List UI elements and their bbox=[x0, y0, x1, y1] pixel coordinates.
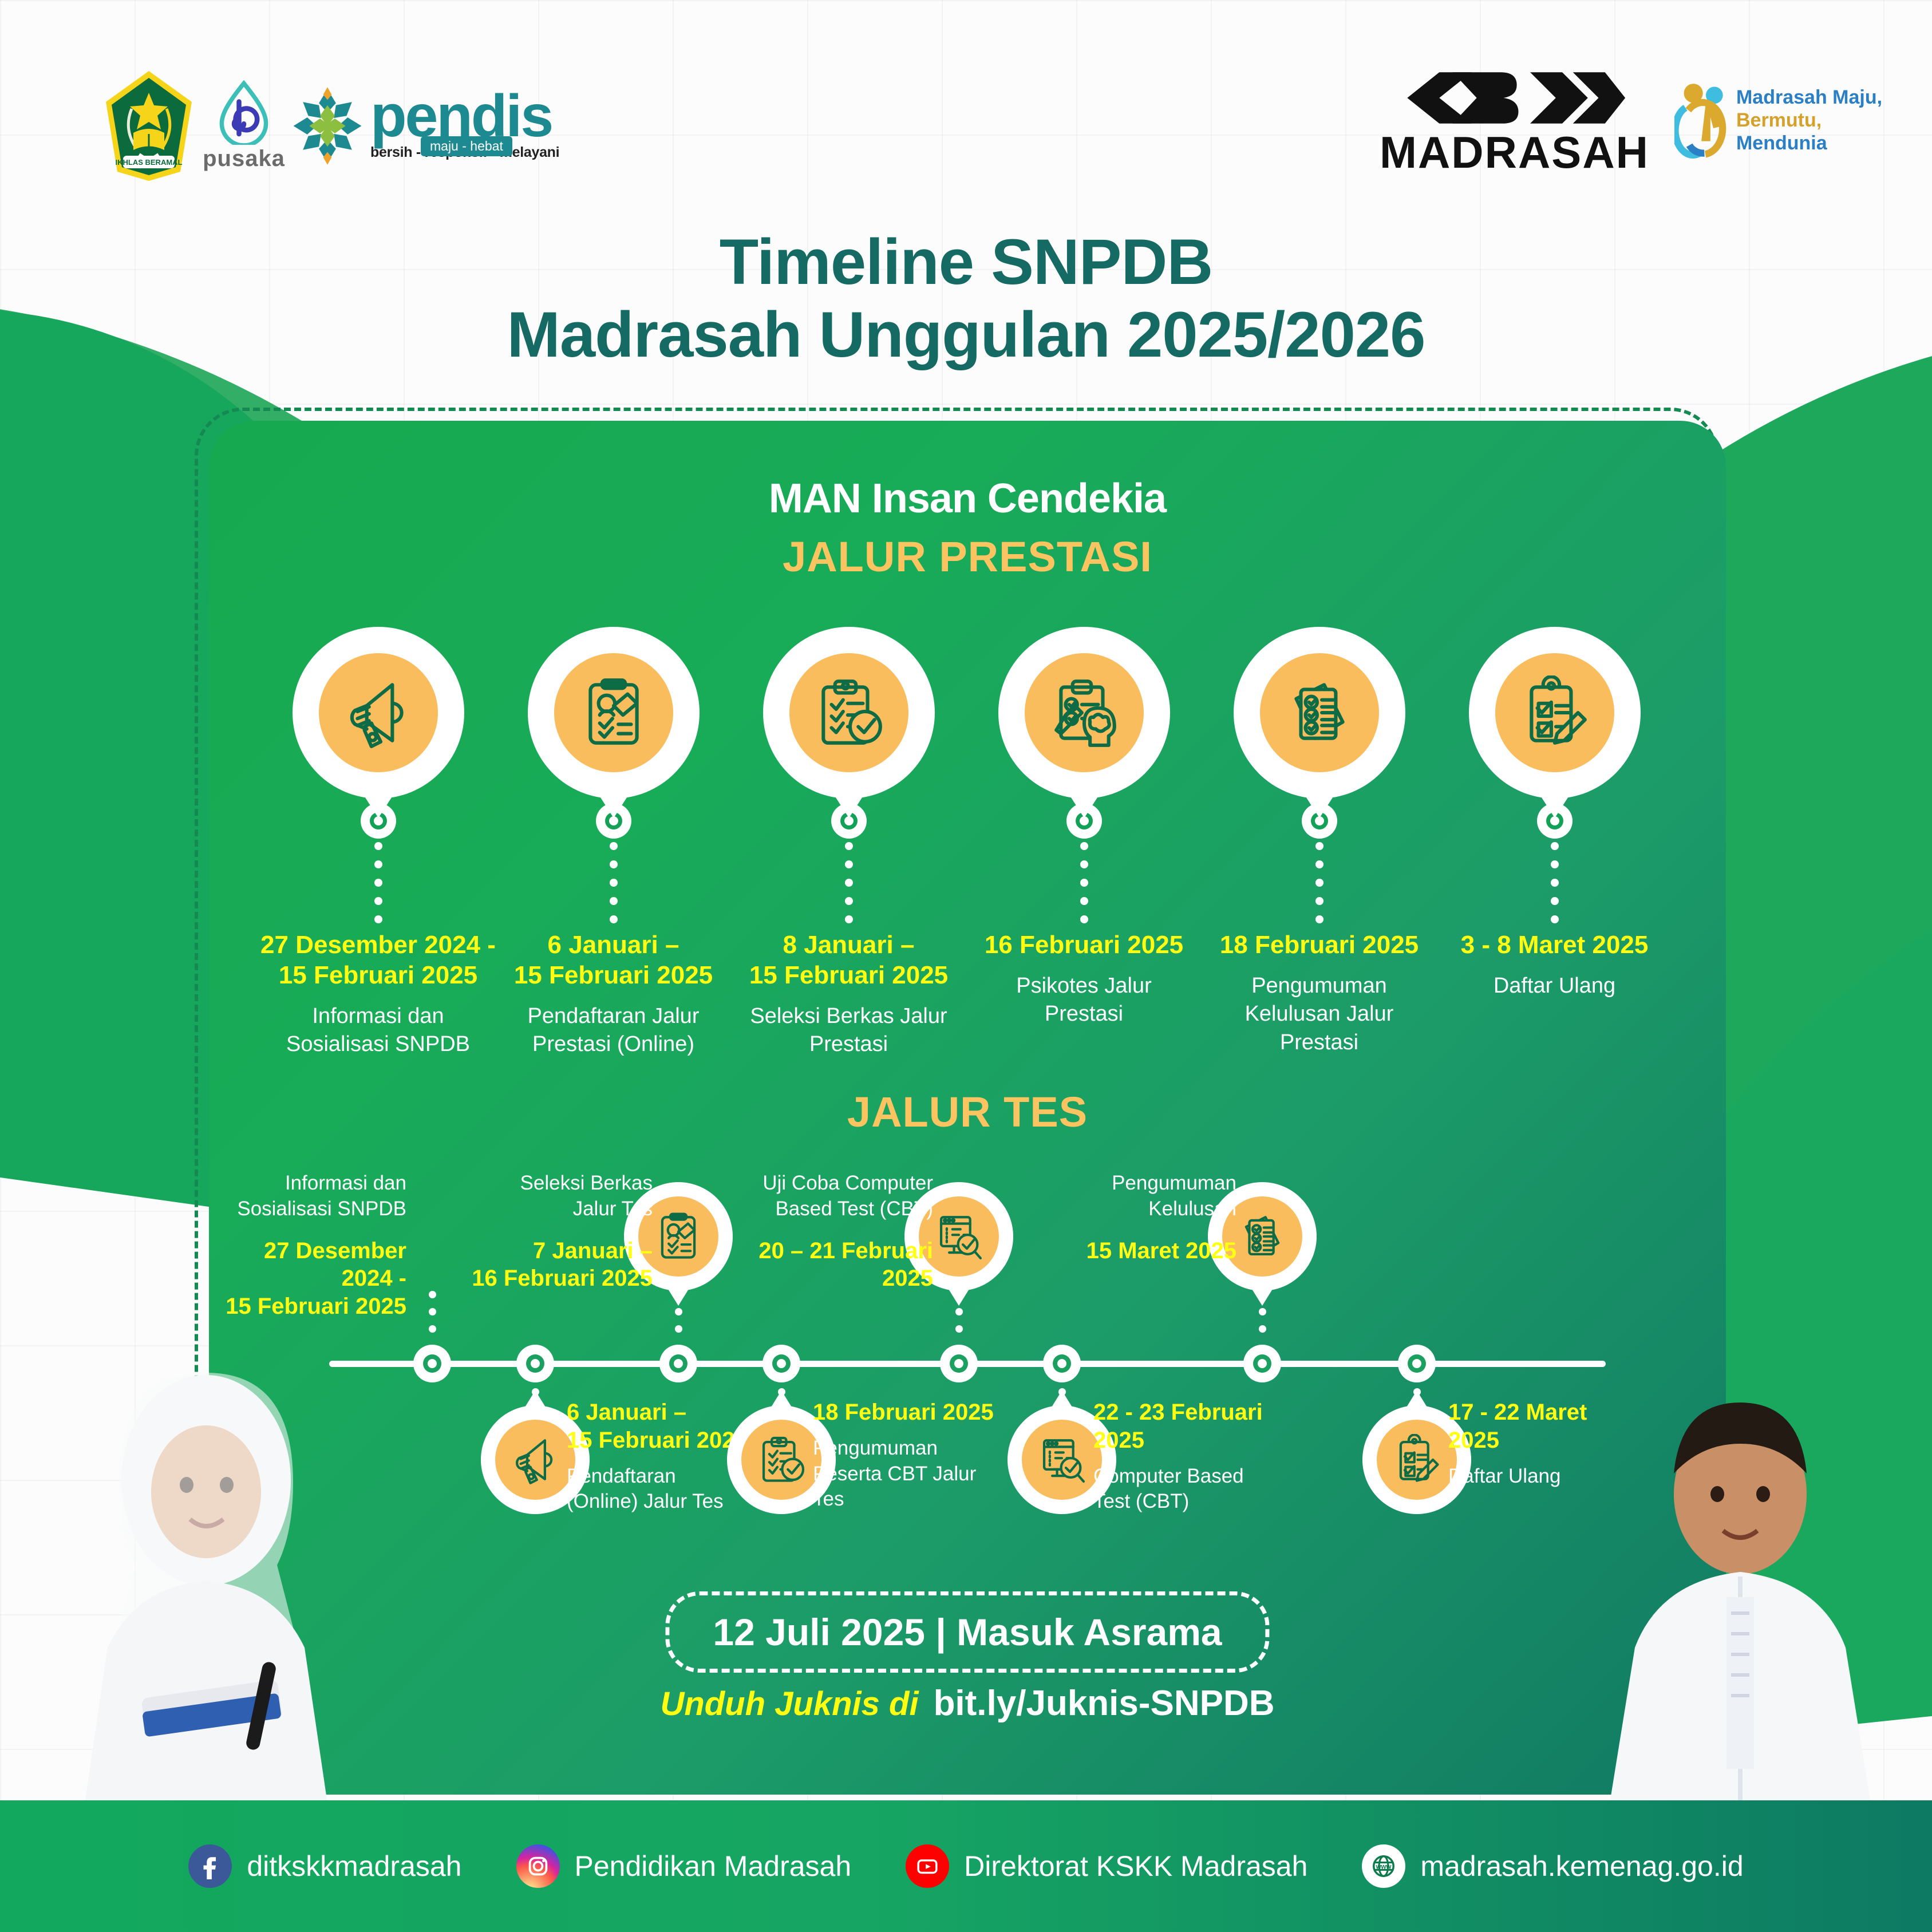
pendis-badge: maju - hebat bbox=[421, 136, 512, 156]
tes-step-date: 20 – 21 Februari2025 bbox=[744, 1237, 933, 1293]
pin-icon-disc bbox=[789, 653, 908, 772]
prestasi-step: 3 - 8 Maret 2025 Daftar Ulang bbox=[1437, 627, 1672, 1058]
juknis-prefix: Unduh Juknis di bbox=[660, 1685, 918, 1723]
tes-step-date: 6 Januari –15 Februari 2025 bbox=[567, 1398, 756, 1455]
pin-icon-disc bbox=[495, 1420, 575, 1500]
social-footer: ditkskkmadrasah Pendidikan Madrasah Dire… bbox=[0, 1800, 1932, 1932]
header-logos-left: IKHLAS BERAMAL pusaka bbox=[100, 69, 559, 183]
social-link[interactable]: ditkskkmadrasah bbox=[188, 1844, 461, 1888]
tes-step-date: 22 - 23 Februari2025 bbox=[1093, 1398, 1282, 1455]
cbt-screen-icon bbox=[933, 1211, 985, 1262]
header-logos-right: MADRASAH Madrasah Maju, Bermutu, Menduni… bbox=[1380, 66, 1882, 175]
prestasi-step-date: 8 Januari –15 Februari 2025 bbox=[749, 930, 948, 991]
tes-step-label: PengumumanKelulusan bbox=[1048, 1171, 1236, 1222]
pin-icon-disc bbox=[1495, 653, 1614, 772]
prestasi-step-pin bbox=[1234, 627, 1405, 799]
social-link-label[interactable]: madrasah.kemenag.go.id bbox=[1420, 1850, 1743, 1883]
timeline-dotted-connector bbox=[1082, 842, 1086, 923]
tes-step-text: Uji Coba ComputerBased Test (CBT)20 – 21… bbox=[744, 1171, 933, 1293]
prestasi-heading: JALUR PRESTASI bbox=[209, 532, 1726, 581]
prestasi-step: 6 Januari –15 Februari 2025 Pendaftaran … bbox=[496, 627, 731, 1058]
social-link-label[interactable]: Pendidikan Madrasah bbox=[575, 1850, 852, 1883]
pin-bubble bbox=[998, 627, 1170, 799]
pin-tail bbox=[663, 1282, 693, 1306]
tes-timeline-node bbox=[762, 1345, 800, 1382]
prestasi-step-pin bbox=[1469, 627, 1641, 799]
tes-step-text: 18 Februari 2025PengumumanPeserta CBT Ja… bbox=[813, 1398, 1002, 1512]
tes-timeline: Informasi danSosialisasi SNPDB27 Desembe… bbox=[249, 1159, 1686, 1560]
clipboard-pencil-icon bbox=[1518, 675, 1592, 750]
pin-bubble bbox=[1469, 627, 1641, 799]
pin-tail bbox=[520, 1390, 550, 1415]
student-photo-right bbox=[1546, 1368, 1912, 1803]
pin-icon-disc bbox=[1260, 653, 1379, 772]
tes-heading: JALUR TES bbox=[209, 1088, 1726, 1136]
pendis-mark bbox=[290, 83, 365, 169]
tes-timeline-node bbox=[659, 1345, 697, 1382]
megaphone-icon bbox=[509, 1434, 561, 1485]
pin-bubble bbox=[293, 627, 464, 799]
mmm-line-2: Bermutu, bbox=[1736, 109, 1882, 132]
prestasi-step: 16 Februari 2025 Psikotes JalurPrestasi bbox=[966, 627, 1202, 1058]
timeline-dotted-connector bbox=[376, 842, 381, 923]
page-title: Timeline SNPDB Madrasah Unggulan 2025/20… bbox=[0, 226, 1932, 371]
timeline-dotted-connector bbox=[847, 842, 851, 923]
madrasah-logo: MADRASAH bbox=[1380, 66, 1649, 175]
pin-icon-disc bbox=[1025, 653, 1144, 772]
megaphone-icon bbox=[341, 675, 416, 750]
tes-timeline-node bbox=[940, 1345, 978, 1382]
pendis-wordmark: pendis bbox=[370, 91, 552, 141]
tes-timeline-node bbox=[1243, 1345, 1281, 1382]
tes-step-label: Informasi danSosialisasi SNPDB bbox=[218, 1171, 406, 1222]
social-link[interactable]: madrasah.kemenag.go.id bbox=[1362, 1844, 1743, 1888]
prestasi-step-date: 6 Januari –15 Februari 2025 bbox=[514, 930, 713, 991]
instagram-icon[interactable] bbox=[516, 1844, 560, 1888]
pin-bubble bbox=[1234, 627, 1405, 799]
prestasi-step: 8 Januari –15 Februari 2025 Seleksi Berk… bbox=[731, 627, 966, 1058]
social-link[interactable]: Direktorat KSKK Madrasah bbox=[906, 1844, 1307, 1888]
prestasi-step-date: 27 Desember 2024 -15 Februari 2025 bbox=[260, 930, 496, 991]
tes-step-text: Informasi danSosialisasi SNPDB27 Desembe… bbox=[218, 1171, 406, 1321]
title-line-1: Timeline SNPDB bbox=[0, 226, 1932, 299]
tes-step-label: Computer BasedTest (CBT) bbox=[1093, 1464, 1282, 1515]
pin-bubble bbox=[763, 627, 935, 799]
prestasi-step-pin bbox=[763, 627, 935, 799]
pin-icon-disc bbox=[1022, 1420, 1102, 1500]
pin-icon-disc bbox=[1377, 1420, 1457, 1500]
pin-tail bbox=[1402, 1390, 1432, 1415]
clipboard-check-icon bbox=[756, 1434, 807, 1485]
social-link[interactable]: Pendidikan Madrasah bbox=[516, 1844, 852, 1888]
prestasi-step-date: 3 - 8 Maret 2025 bbox=[1461, 930, 1649, 961]
mmm-figure-icon bbox=[1674, 77, 1729, 163]
tes-step-date: 18 Februari 2025 bbox=[813, 1398, 1002, 1427]
mmm-line-3: Mendunia bbox=[1736, 132, 1882, 155]
timeline-dotted-connector bbox=[1552, 842, 1557, 923]
documents-check-icon bbox=[1236, 1211, 1288, 1262]
juknis-link[interactable]: bit.ly/Juknis-SNPDB bbox=[934, 1683, 1275, 1724]
psychology-test-icon bbox=[1047, 675, 1121, 750]
prestasi-step: 27 Desember 2024 -15 Februari 2025 Infor… bbox=[260, 627, 496, 1058]
pin-icon-disc bbox=[741, 1420, 821, 1500]
pin-tail bbox=[767, 1390, 796, 1415]
school-name: MAN Insan Cendekia bbox=[209, 475, 1726, 522]
title-line-2: Madrasah Unggulan 2025/2026 bbox=[0, 299, 1932, 372]
prestasi-step-label: PengumumanKelulusan JalurPrestasi bbox=[1245, 972, 1394, 1057]
prestasi-step-date: 18 Februari 2025 bbox=[1220, 930, 1419, 961]
clipboard-check-icon bbox=[812, 675, 886, 750]
tes-step-text: Seleksi BerkasJalur Tes7 Januari –16 Feb… bbox=[464, 1171, 653, 1293]
youtube-icon[interactable] bbox=[906, 1844, 949, 1888]
tes-step-label: Pendaftaran(Online) Jalur Tes bbox=[567, 1464, 756, 1515]
pin-tail bbox=[1247, 1282, 1277, 1306]
tes-step-text: 22 - 23 Februari2025Computer BasedTest (… bbox=[1093, 1398, 1282, 1515]
madrasah-maju-logo: Madrasah Maju, Bermutu, Mendunia bbox=[1674, 77, 1882, 163]
madrasah-chevron-mark bbox=[1394, 66, 1634, 130]
juknis-line: Unduh Juknis di bit.ly/Juknis-SNPDB bbox=[660, 1683, 1274, 1724]
prestasi-step-label: Seleksi Berkas JalurPrestasi bbox=[750, 1002, 947, 1059]
asrama-badge: 12 Juli 2025 | Masuk Asrama bbox=[665, 1591, 1269, 1673]
tes-step-date: 27 Desember 2024 -15 Februari 2025 bbox=[218, 1237, 406, 1321]
asrama-text: 12 Juli 2025 | Masuk Asrama bbox=[713, 1611, 1222, 1653]
tes-timeline-node bbox=[1043, 1345, 1081, 1382]
tes-timeline-node bbox=[1398, 1345, 1436, 1382]
form-register-icon bbox=[576, 675, 651, 750]
timeline-card: MAN Insan Cendekia JALUR PRESTASI 27 Des… bbox=[209, 421, 1726, 1795]
tes-step-text: PengumumanKelulusan15 Maret 2025 bbox=[1048, 1171, 1236, 1265]
mmm-line-1: Madrasah Maju, bbox=[1736, 86, 1882, 109]
prestasi-step: 18 Februari 2025 PengumumanKelulusan Jal… bbox=[1202, 627, 1437, 1058]
pin-tail bbox=[1047, 1390, 1077, 1415]
cbt-screen-icon bbox=[1036, 1434, 1088, 1485]
pin-icon-disc bbox=[319, 653, 438, 772]
timeline-dotted-connector bbox=[1317, 842, 1322, 923]
facebook-icon[interactable] bbox=[188, 1844, 232, 1888]
pin-icon-disc bbox=[554, 653, 673, 772]
tes-step-date: 15 Maret 2025 bbox=[1048, 1237, 1236, 1265]
svg-text:IKHLAS BERAMAL: IKHLAS BERAMAL bbox=[116, 158, 183, 167]
tes-timeline-node bbox=[413, 1345, 451, 1382]
social-link-label[interactable]: ditkskkmadrasah bbox=[247, 1850, 461, 1883]
tes-dotted-connector bbox=[429, 1291, 435, 1333]
infographic-canvas: IKHLAS BERAMAL pusaka bbox=[0, 0, 1932, 1932]
pin-tail bbox=[944, 1282, 974, 1306]
pin-bubble bbox=[528, 627, 700, 799]
prestasi-step-label: Informasi danSosialisasi SNPDB bbox=[286, 1002, 470, 1059]
tes-step-date: 7 Januari –16 Februari 2025 bbox=[464, 1237, 653, 1293]
pendis-logo: pendis bersih - responsif - melayani maj… bbox=[290, 83, 559, 169]
timeline-dotted-connector bbox=[611, 842, 616, 923]
social-link-label[interactable]: Direktorat KSKK Madrasah bbox=[964, 1850, 1307, 1883]
prestasi-step-pin bbox=[998, 627, 1170, 799]
tes-timeline-node bbox=[516, 1345, 554, 1382]
kemenag-logo: IKHLAS BERAMAL bbox=[100, 69, 197, 183]
pusaka-logo: pusaka bbox=[212, 80, 275, 172]
madrasah-wordmark: MADRASAH bbox=[1380, 130, 1649, 175]
tes-step-label: PengumumanPeserta CBT JalurTes bbox=[813, 1436, 1002, 1512]
pusaka-label: pusaka bbox=[203, 146, 285, 172]
prestasi-step-label: Daftar Ulang bbox=[1494, 972, 1615, 1000]
prestasi-step-pin bbox=[293, 627, 464, 799]
website-icon[interactable] bbox=[1362, 1844, 1405, 1888]
prestasi-step-date: 16 Februari 2025 bbox=[985, 930, 1183, 961]
student-photo-left bbox=[34, 1345, 401, 1803]
tes-step-label: Uji Coba ComputerBased Test (CBT) bbox=[744, 1171, 933, 1222]
prestasi-timeline: 27 Desember 2024 -15 Februari 2025 Infor… bbox=[260, 627, 1674, 1058]
mmm-tagline: Madrasah Maju, Bermutu, Mendunia bbox=[1736, 86, 1882, 155]
form-register-icon bbox=[653, 1211, 704, 1262]
tes-step-label: Seleksi BerkasJalur Tes bbox=[464, 1171, 653, 1222]
prestasi-step-pin bbox=[528, 627, 700, 799]
prestasi-step-label: Psikotes JalurPrestasi bbox=[1016, 972, 1152, 1029]
clipboard-pencil-icon bbox=[1391, 1434, 1443, 1485]
documents-check-icon bbox=[1282, 675, 1357, 750]
prestasi-step-label: Pendaftaran JalurPrestasi (Online) bbox=[528, 1002, 700, 1059]
